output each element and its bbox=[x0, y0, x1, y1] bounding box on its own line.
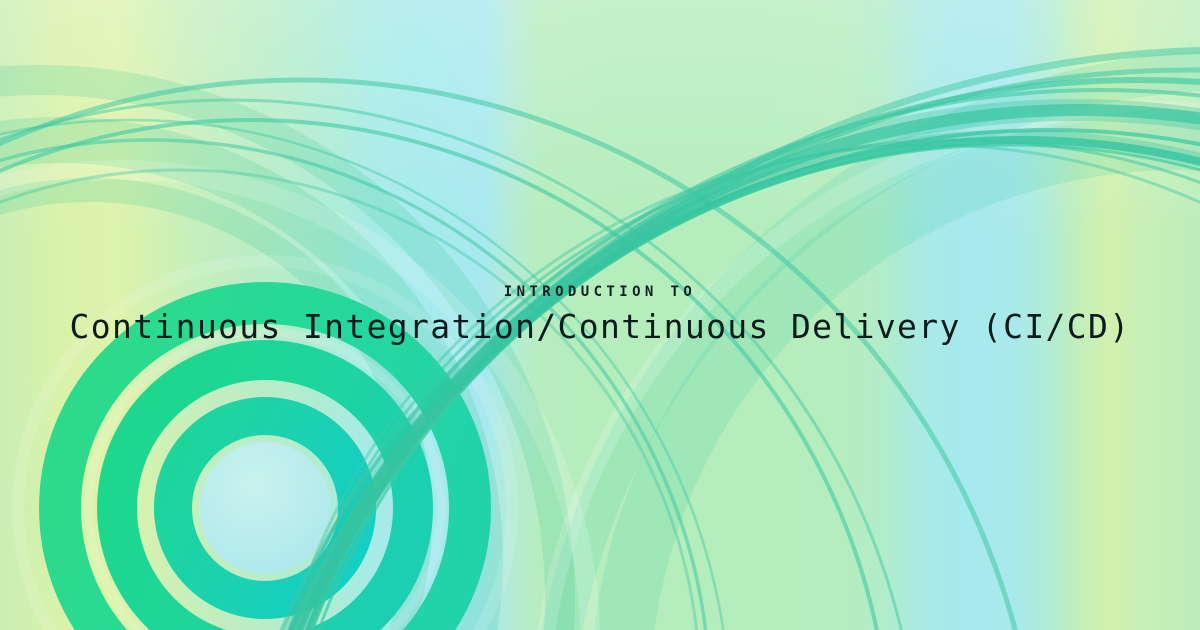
title-card: INTRODUCTION TO Continuous Integration/C… bbox=[0, 0, 1200, 630]
thin-arcs-layer bbox=[0, 0, 1200, 630]
